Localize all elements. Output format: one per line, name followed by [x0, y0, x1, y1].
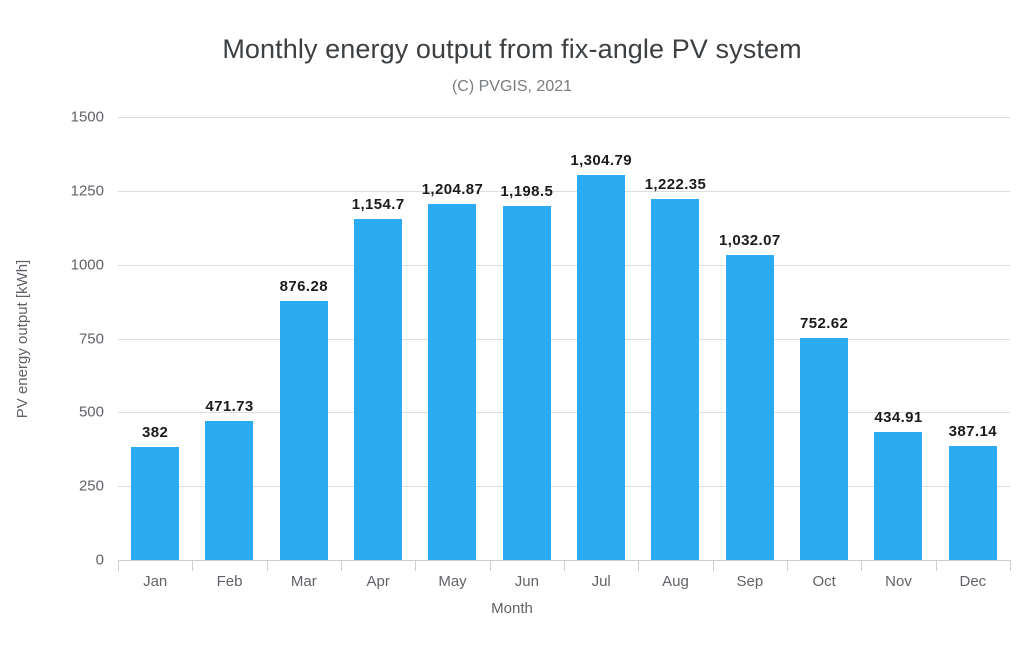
chart-title: Monthly energy output from fix-angle PV …	[0, 34, 1024, 65]
bar-value-label: 434.91	[874, 409, 922, 426]
x-axis-tick-mark	[490, 560, 491, 571]
bar-column: 387.14	[936, 117, 1010, 560]
bar-value-label: 752.62	[800, 315, 848, 332]
x-axis-tick-mark	[118, 560, 119, 571]
bar-column: 1,204.87	[415, 117, 489, 560]
bar-value-label: 1,304.79	[570, 152, 632, 169]
bar[interactable]	[874, 432, 922, 560]
bar[interactable]	[428, 204, 476, 560]
bar-value-label: 382	[142, 424, 168, 441]
bar-value-label: 1,198.5	[500, 183, 553, 200]
x-axis-tick-mark	[713, 560, 714, 571]
y-axis-tick-label: 1500	[0, 109, 104, 126]
x-axis-tick-mark	[1010, 560, 1011, 571]
bar-value-label: 876.28	[280, 278, 328, 295]
bar-column: 876.28	[267, 117, 341, 560]
x-axis-tick-mark	[936, 560, 937, 571]
bar-column: 471.73	[192, 117, 266, 560]
x-axis-tick-label: Jun	[515, 573, 539, 590]
x-axis-tick-label: Feb	[217, 573, 243, 590]
x-axis-tick-label: Jul	[592, 573, 611, 590]
y-axis-tick-label: 750	[0, 330, 104, 347]
bar-value-label: 1,222.35	[645, 176, 707, 193]
x-axis-tick-label: Sep	[736, 573, 763, 590]
x-axis-tick-mark	[415, 560, 416, 571]
bar[interactable]	[131, 447, 179, 560]
x-axis-tick-label: Nov	[885, 573, 912, 590]
x-axis-tick-label: Jan	[143, 573, 167, 590]
bar[interactable]	[205, 421, 253, 560]
x-axis-tick-label: May	[438, 573, 466, 590]
x-axis-tick-label: Apr	[366, 573, 389, 590]
bar-value-label: 387.14	[949, 423, 997, 440]
x-axis-tick-label: Dec	[959, 573, 986, 590]
y-axis-tick-label: 500	[0, 404, 104, 421]
bar-value-label: 1,204.87	[422, 181, 484, 198]
x-axis-tick-label: Oct	[812, 573, 835, 590]
bar[interactable]	[280, 301, 328, 560]
bar-column: 1,032.07	[713, 117, 787, 560]
y-axis-tick-label: 0	[0, 552, 104, 569]
bar-value-label: 1,154.7	[352, 196, 405, 213]
x-axis-tick-mark	[564, 560, 565, 571]
x-axis-tick-label: Mar	[291, 573, 317, 590]
bar-series: 382471.73876.281,154.71,204.871,198.51,3…	[118, 117, 1010, 560]
x-axis-tick-mark	[861, 560, 862, 571]
x-axis-tick-mark	[192, 560, 193, 571]
bar-value-label: 1,032.07	[719, 232, 781, 249]
bar-column: 1,198.5	[490, 117, 564, 560]
bar-column: 434.91	[861, 117, 935, 560]
y-axis-tick-label: 1250	[0, 182, 104, 199]
y-axis-tick-label: 250	[0, 478, 104, 495]
bar-column: 1,304.79	[564, 117, 638, 560]
x-axis-tick-mark	[267, 560, 268, 571]
x-axis-tick-mark	[341, 560, 342, 571]
x-axis-tick-label: Aug	[662, 573, 689, 590]
x-axis-tick-mark	[787, 560, 788, 571]
bar[interactable]	[354, 219, 402, 560]
y-axis-tick-label: 1000	[0, 256, 104, 273]
bar-column: 1,222.35	[638, 117, 712, 560]
bar[interactable]	[726, 255, 774, 560]
plot-area: 382471.73876.281,154.71,204.871,198.51,3…	[118, 117, 1010, 560]
bar-column: 1,154.7	[341, 117, 415, 560]
bar[interactable]	[577, 175, 625, 560]
bar[interactable]	[503, 206, 551, 560]
bar[interactable]	[800, 338, 848, 560]
x-axis-title: Month	[0, 600, 1024, 617]
bar-column: 382	[118, 117, 192, 560]
bar[interactable]	[949, 446, 997, 560]
bar-column: 752.62	[787, 117, 861, 560]
chart-container: Monthly energy output from fix-angle PV …	[0, 0, 1024, 645]
chart-subtitle: (C) PVGIS, 2021	[0, 78, 1024, 96]
bar-value-label: 471.73	[205, 398, 253, 415]
x-axis-tick-mark	[638, 560, 639, 571]
bar[interactable]	[651, 199, 699, 560]
